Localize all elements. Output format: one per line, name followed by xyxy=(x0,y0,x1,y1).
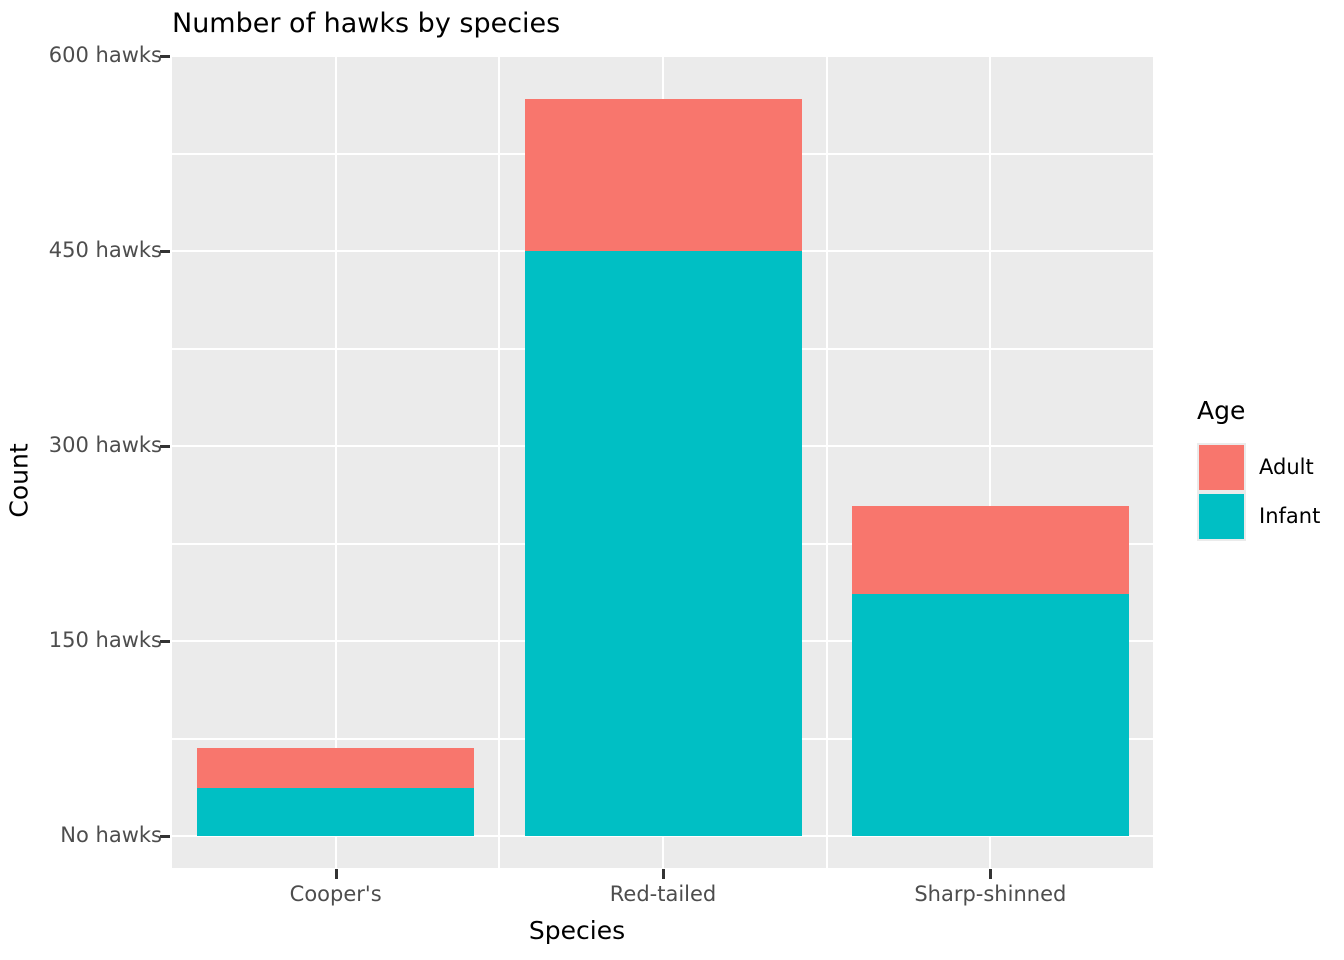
x-axis-title: Species xyxy=(0,918,1154,943)
legend-key-swatch xyxy=(1197,443,1246,492)
bar-segment xyxy=(852,594,1129,836)
bar-segment xyxy=(197,788,474,836)
legend-entry[interactable]: Infant xyxy=(1197,492,1320,541)
x-axis-tick-label: Cooper's xyxy=(290,884,382,905)
legend-title: Age xyxy=(1197,398,1245,423)
x-axis-tick-label: Red-tailed xyxy=(610,884,717,905)
y-axis-tick-label: 600 hawks xyxy=(49,45,162,66)
x-axis-tick-mark xyxy=(335,869,338,879)
legend-swatch-fill xyxy=(1199,494,1244,539)
plot-panel xyxy=(172,56,1154,868)
legend-items: AdultInfant xyxy=(1197,443,1320,541)
gridline-vertical-minor xyxy=(498,56,500,868)
gridline-vertical-minor xyxy=(1153,56,1154,868)
y-axis-tick-label: 450 hawks xyxy=(49,240,162,261)
y-axis-tick-label: 150 hawks xyxy=(49,630,162,651)
legend-swatch-fill xyxy=(1199,445,1244,490)
bar-segment xyxy=(197,748,474,788)
bar-segment xyxy=(852,506,1129,594)
legend-entry[interactable]: Adult xyxy=(1197,443,1320,492)
legend-key-swatch xyxy=(1197,492,1246,541)
y-axis-title: Count xyxy=(4,0,34,960)
bar-segment xyxy=(525,251,802,836)
x-axis-tick-mark xyxy=(662,869,665,879)
ggplot-bar-chart: Number of hawks by species No hawks150 h… xyxy=(0,0,1344,960)
gridline-vertical-minor xyxy=(826,56,828,868)
legend-entry-label: Infant xyxy=(1259,506,1320,527)
chart-title: Number of hawks by species xyxy=(172,10,560,37)
x-axis-tick-mark xyxy=(989,869,992,879)
bar-segment xyxy=(525,99,802,251)
y-axis-tick-label: 300 hawks xyxy=(49,435,162,456)
y-axis-tick-label: No hawks xyxy=(60,825,162,846)
y-axis-title-text: Count xyxy=(7,443,32,517)
gridline-vertical-major xyxy=(335,56,337,868)
x-axis-tick-label: Sharp-shinned xyxy=(914,884,1066,905)
legend-entry-label: Adult xyxy=(1259,457,1314,478)
